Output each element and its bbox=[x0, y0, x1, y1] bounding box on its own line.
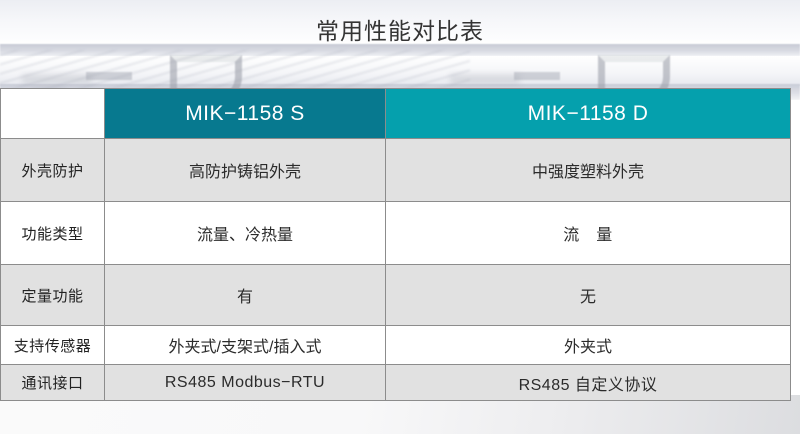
background-smudge-right bbox=[450, 74, 520, 84]
table-row: 通讯接口 RS485 Modbus−RTU RS485 自定义协议 bbox=[1, 365, 791, 401]
cell-model-s-batching-function: 有 bbox=[105, 265, 386, 326]
comparison-table: MIK−1158 S MIK−1158 D 外壳防护 高防护铸铝外壳 中强度塑料… bbox=[0, 88, 791, 401]
table-row: 定量功能 有 无 bbox=[1, 265, 791, 326]
header-row: MIK−1158 S MIK−1158 D bbox=[1, 89, 791, 139]
column-header-model-s: MIK−1158 S bbox=[105, 89, 386, 139]
cell-model-s-supported-sensors: 外夹式/支架式/插入式 bbox=[105, 326, 386, 365]
column-header-model-d: MIK−1158 D bbox=[386, 89, 791, 139]
cell-model-d-function-type: 流 量 bbox=[386, 202, 791, 265]
background-photo-strip bbox=[0, 0, 800, 100]
row-label-batching-function: 定量功能 bbox=[1, 265, 105, 326]
table-row: 外壳防护 高防护铸铝外壳 中强度塑料外壳 bbox=[1, 139, 791, 202]
cell-model-d-supported-sensors: 外夹式 bbox=[386, 326, 791, 365]
row-label-function-type: 功能类型 bbox=[1, 202, 105, 265]
background-hook-tail-left bbox=[86, 72, 132, 80]
cell-model-d-communication-interface: RS485 自定义协议 bbox=[386, 365, 791, 401]
row-label-communication-interface: 通讯接口 bbox=[1, 365, 105, 401]
table-body: 外壳防护 高防护铸铝外壳 中强度塑料外壳 功能类型 流量、冷热量 流 量 定量功… bbox=[1, 139, 791, 401]
table-header: MIK−1158 S MIK−1158 D bbox=[1, 89, 791, 139]
cell-model-s-function-type: 流量、冷热量 bbox=[105, 202, 386, 265]
page-title: 常用性能对比表 bbox=[0, 16, 800, 46]
table-row: 支持传感器 外夹式/支架式/插入式 外夹式 bbox=[1, 326, 791, 365]
cell-model-d-shell-protection: 中强度塑料外壳 bbox=[386, 139, 791, 202]
cell-model-d-batching-function: 无 bbox=[386, 265, 791, 326]
background-hook-tail-right bbox=[514, 72, 560, 80]
background-smudge-left bbox=[22, 74, 92, 84]
table-row: 功能类型 流量、冷热量 流 量 bbox=[1, 202, 791, 265]
row-label-shell-protection: 外壳防护 bbox=[1, 139, 105, 202]
row-label-supported-sensors: 支持传感器 bbox=[1, 326, 105, 365]
cell-model-s-shell-protection: 高防护铸铝外壳 bbox=[105, 139, 386, 202]
cell-model-s-communication-interface: RS485 Modbus−RTU bbox=[105, 365, 386, 401]
header-corner-cell bbox=[1, 89, 105, 139]
